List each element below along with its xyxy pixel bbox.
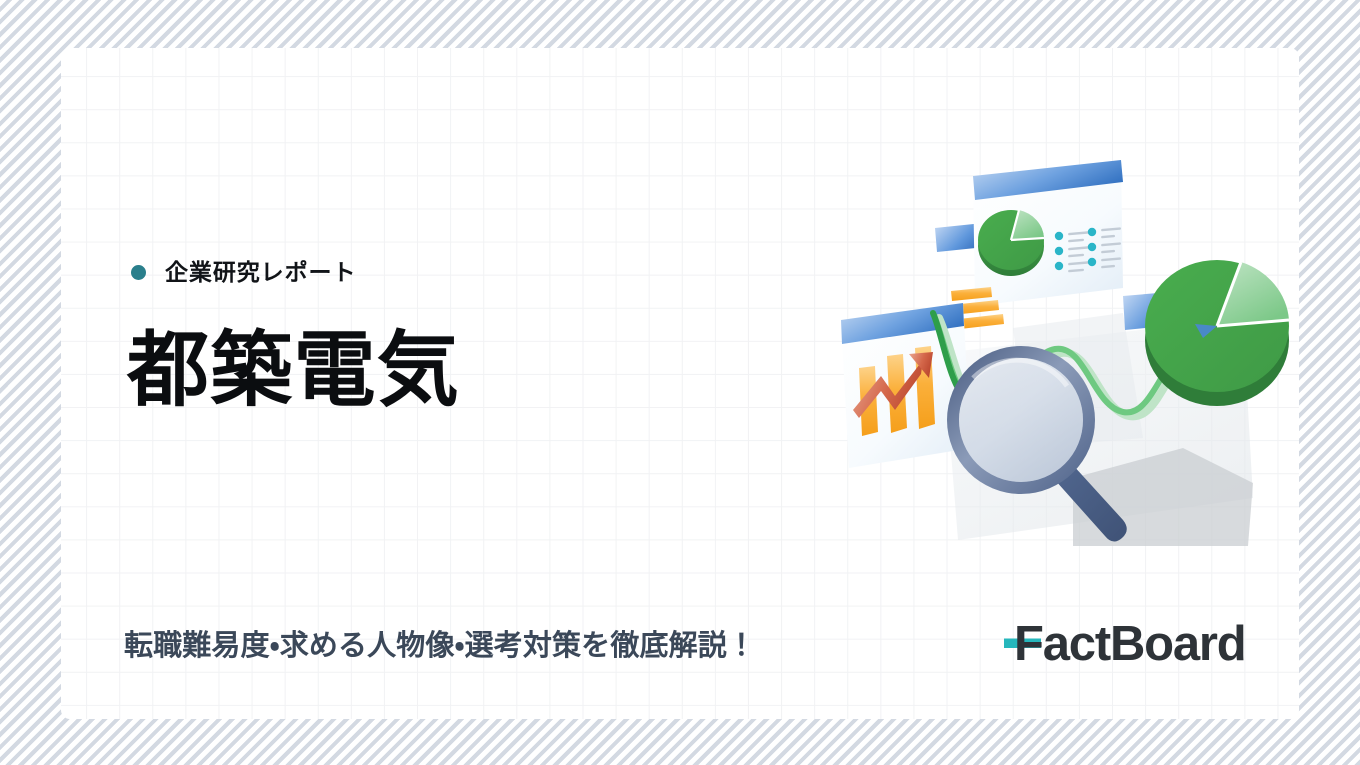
magnifier-rim bbox=[947, 346, 1095, 494]
eyebrow-label: 企業研究レポート bbox=[131, 261, 356, 284]
report-cover-card: 企業研究レポート 都築電気 転職難易度・求める人物像・選考対策を徹底解説！ Fa… bbox=[61, 48, 1299, 719]
logo-accent-bar-overlap bbox=[1004, 639, 1016, 649]
magnifier-handle bbox=[1055, 464, 1127, 542]
trending-up-arrow-icon bbox=[853, 352, 933, 418]
card-bar-right bbox=[1123, 290, 1195, 330]
page-title: 都築電気 bbox=[127, 325, 460, 417]
dashboard-card-top bbox=[973, 160, 1123, 306]
factboard-wordmark-icon: FactBoard bbox=[1004, 613, 1254, 675]
bullet-list bbox=[1055, 227, 1121, 272]
magnifying-glass-icon bbox=[947, 346, 1127, 542]
pie-chart-icon bbox=[978, 210, 1044, 276]
bullet-dot-icon bbox=[131, 265, 146, 280]
orange-bars bbox=[951, 287, 1004, 329]
magnifier-lens bbox=[959, 358, 1083, 482]
card-tab-small bbox=[935, 222, 995, 252]
card-header-bar bbox=[973, 160, 1123, 200]
page-subtitle: 転職難易度・求める人物像・選考対策を徹底解説！ bbox=[124, 628, 756, 664]
cover-page: 企業研究レポート 都築電気 転職難易度・求める人物像・選考対策を徹底解説！ Fa… bbox=[0, 0, 1360, 765]
pie-chart-large bbox=[1145, 260, 1289, 406]
bar-chart-icon bbox=[859, 346, 935, 436]
factboard-logo: FactBoard bbox=[1004, 613, 1254, 675]
dashboard-card-left bbox=[841, 303, 971, 468]
data-analysis-illustration bbox=[823, 148, 1293, 568]
eyebrow-text: 企業研究レポート bbox=[165, 261, 356, 284]
card-header-bar-left bbox=[841, 303, 964, 344]
logo-wordmark-text: FactBoard bbox=[1014, 617, 1246, 671]
wave-line-icon bbox=[933, 313, 1195, 416]
background-sheet bbox=[943, 313, 1253, 546]
